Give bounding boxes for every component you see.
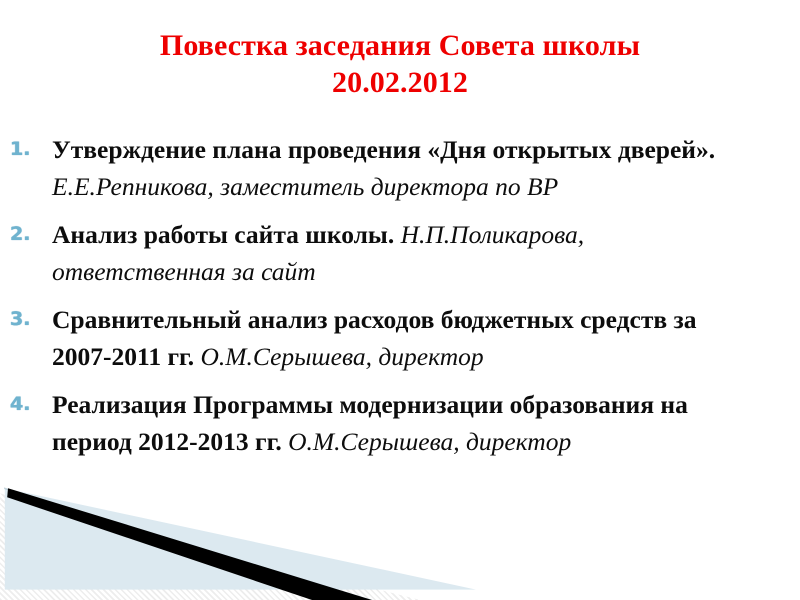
slide-title: Повестка заседания Совета школы 20.02.20… bbox=[40, 28, 760, 102]
hairline-edge-shape bbox=[0, 470, 800, 600]
list-item-number: 1. bbox=[6, 131, 52, 168]
list-item-presenter: О.М.Серышева, директор bbox=[194, 342, 484, 371]
list-item: 4. Реализация Программы модернизации обр… bbox=[6, 386, 786, 460]
title-line-2: 20.02.2012 bbox=[40, 65, 760, 102]
list-item: 3. Сравнительный анализ расходов бюджетн… bbox=[6, 301, 786, 375]
list-item-presenter: Е.Е.Репникова, заместитель директора по … bbox=[52, 172, 558, 201]
list-item: 2. Анализ работы сайта школы. Н.П.Полика… bbox=[6, 216, 786, 290]
agenda-list: 1. Утверждение плана проведения «Дня отк… bbox=[6, 131, 786, 471]
title-line-1: Повестка заседания Совета школы bbox=[40, 28, 760, 65]
list-item-number: 2. bbox=[6, 216, 52, 253]
corner-decoration bbox=[0, 470, 800, 600]
list-item-text: Анализ работы сайта школы. Н.П.Поликаров… bbox=[52, 216, 786, 290]
list-item-text: Утверждение плана проведения «Дня открыт… bbox=[52, 131, 786, 205]
slide-canvas: Повестка заседания Совета школы 20.02.20… bbox=[0, 0, 800, 600]
hatched-triangle-shape bbox=[0, 470, 420, 600]
list-item-title: Утверждение плана проведения «Дня открыт… bbox=[52, 135, 715, 164]
list-item-text: Сравнительный анализ расходов бюджетных … bbox=[52, 301, 786, 375]
list-item: 1. Утверждение плана проведения «Дня отк… bbox=[6, 131, 786, 205]
list-item-number: 3. bbox=[6, 301, 52, 338]
list-item-number: 4. bbox=[6, 386, 52, 423]
list-item-title: Анализ работы сайта школы. bbox=[52, 220, 394, 249]
black-diagonal-band-shape bbox=[0, 470, 800, 600]
list-item-text: Реализация Программы модернизации образо… bbox=[52, 386, 786, 460]
list-item-presenter: О.М.Серышева, директор bbox=[282, 427, 572, 456]
pale-blue-wedge-shape bbox=[0, 470, 800, 600]
